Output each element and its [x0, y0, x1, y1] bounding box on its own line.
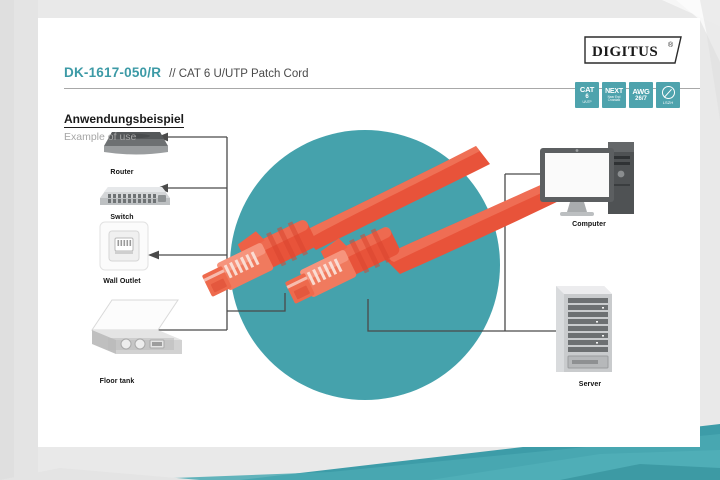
next-badge: NEXT Near End Crosstalk: [602, 82, 626, 108]
lszh-badge-caption: LSZH: [663, 101, 674, 105]
certification-badges: CAT 6 U/UTP NEXT Near End Crosstalk AWG …: [575, 82, 680, 108]
section-title: Anwendungsbeispiel Example of use: [64, 110, 184, 143]
svg-text:DIGITUS: DIGITUS: [592, 44, 658, 60]
cat6-badge-line2: 6: [585, 94, 588, 100]
product-description: // CAT 6 U/UTP Patch Cord: [169, 68, 308, 80]
awg-badge: AWG 26/7: [629, 82, 653, 108]
section-title-en: Example of use: [64, 131, 184, 143]
lszh-no-halogen-icon: [662, 86, 675, 99]
next-badge-line1: NEXT: [605, 88, 623, 95]
section-title-de: Anwendungsbeispiel: [64, 112, 184, 128]
awg-badge-line2: 26/7: [635, 96, 647, 102]
server-icon: [556, 286, 612, 372]
content-card: Router Switch Wall Outlet Floor tank Com…: [38, 18, 700, 447]
svg-text:®: ®: [668, 41, 674, 49]
wall-outlet-icon: [100, 222, 148, 270]
floor-tank-icon: [92, 300, 182, 354]
switch-icon: [100, 187, 170, 205]
computer-icon: [540, 142, 634, 216]
cat6-badge: CAT 6 U/UTP: [575, 82, 599, 108]
cat6-badge-line1: CAT: [580, 86, 594, 94]
next-badge-line3: Near End Crosstalk: [602, 96, 626, 102]
product-sku: DK-1617-050/R: [64, 65, 161, 80]
lszh-badge: LSZH: [656, 82, 680, 108]
digitus-logo: DIGITUS ®: [584, 36, 682, 64]
cat6-badge-line3: U/UTP: [582, 101, 591, 104]
awg-badge-line1: AWG: [632, 88, 649, 96]
